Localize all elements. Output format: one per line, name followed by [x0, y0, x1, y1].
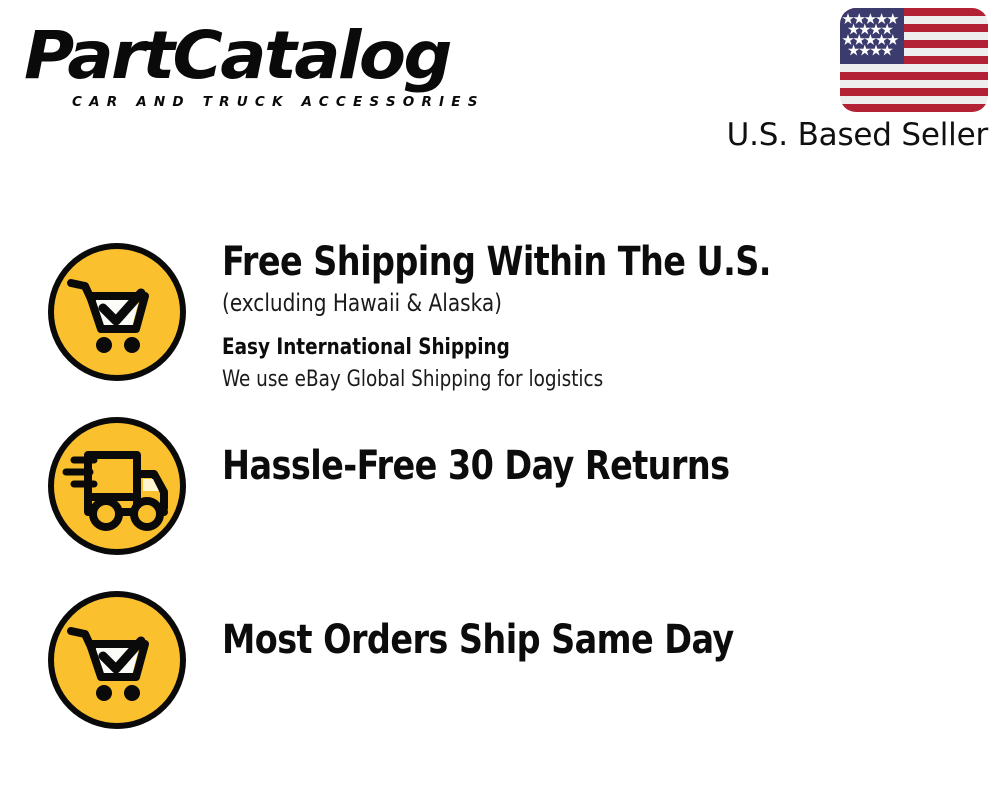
benefit-sub-text: We use eBay Global Shipping for logistic… — [222, 364, 929, 396]
benefit-text-block: Most Orders Ship Same Day — [222, 616, 982, 664]
benefits-list: Free Shipping Within The U.S. (excluding… — [0, 230, 1000, 752]
shopping-cart-check-icon — [44, 239, 190, 385]
us-based-seller-label: U.S. Based Seller — [708, 116, 988, 154]
shopping-cart-check-icon — [44, 587, 190, 733]
benefit-heading: Hassle-Free 30 Day Returns — [222, 442, 929, 490]
page-header: PartCatalog CAR AND TRUCK ACCESSORIES — [0, 0, 1000, 170]
benefit-row: Hassle-Free 30 Day Returns — [0, 404, 1000, 578]
benefit-text-block: Free Shipping Within The U.S. (excluding… — [222, 238, 982, 396]
us-flag-icon — [840, 8, 988, 112]
brand-wordmark: PartCatalog — [24, 20, 513, 92]
benefit-heading: Most Orders Ship Same Day — [222, 616, 929, 664]
delivery-truck-icon — [44, 413, 190, 559]
benefit-row: Most Orders Ship Same Day — [0, 578, 1000, 752]
brand-logo[interactable]: PartCatalog CAR AND TRUCK ACCESSORIES — [24, 20, 494, 120]
benefit-row: Free Shipping Within The U.S. (excluding… — [0, 230, 1000, 404]
brand-tagline: CAR AND TRUCK ACCESSORIES — [72, 94, 494, 110]
benefit-sub-title: Easy International Shipping — [222, 332, 929, 364]
benefit-heading: Free Shipping Within The U.S. — [222, 238, 929, 286]
benefit-note: (excluding Hawaii & Alaska) — [222, 286, 929, 320]
us-based-seller-badge: U.S. Based Seller — [708, 8, 988, 154]
benefit-text-block: Hassle-Free 30 Day Returns — [222, 442, 982, 490]
